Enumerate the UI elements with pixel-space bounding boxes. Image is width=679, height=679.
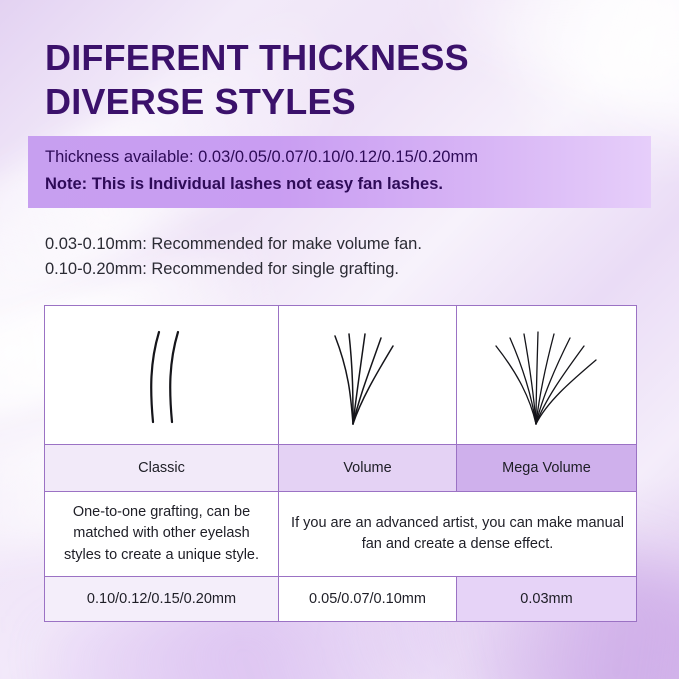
table-row-thicknesses: 0.10/0.12/0.15/0.20mm 0.05/0.07/0.10mm 0…: [45, 577, 637, 622]
table-row-images: [45, 306, 637, 445]
volume-lash-image: [279, 306, 457, 445]
recommendation-line-1: 0.03-0.10mm: Recommended for make volume…: [45, 232, 422, 257]
thickness-banner: Thickness available: 0.03/0.05/0.07/0.10…: [28, 136, 651, 208]
label-classic: Classic: [45, 445, 279, 492]
page-title-line-1: DIFFERENT THICKNESS: [45, 37, 469, 78]
label-mega-volume: Mega Volume: [457, 445, 637, 492]
page-title-line-2: DIVERSE STYLES: [45, 80, 645, 124]
table-row-descriptions: One-to-one grafting, can be matched with…: [45, 492, 637, 577]
table-row-labels: Classic Volume Mega Volume: [45, 445, 637, 492]
banner-note-text: Note: This is Individual lashes not easy…: [45, 171, 651, 197]
thickness-volume: 0.05/0.07/0.10mm: [279, 577, 457, 622]
mega-volume-lash-image: [457, 306, 637, 445]
recommendations: 0.03-0.10mm: Recommended for make volume…: [45, 232, 422, 282]
description-volume-mega: If you are an advanced artist, you can m…: [279, 492, 637, 577]
poster-root: DIFFERENT THICKNESS DIVERSE STYLES Thick…: [0, 0, 679, 679]
label-volume: Volume: [279, 445, 457, 492]
thickness-classic: 0.10/0.12/0.15/0.20mm: [45, 577, 279, 622]
thickness-available-text: Thickness available: 0.03/0.05/0.07/0.10…: [45, 145, 651, 171]
recommendation-line-2: 0.10-0.20mm: Recommended for single graf…: [45, 257, 422, 282]
page-title: DIFFERENT THICKNESS DIVERSE STYLES: [45, 36, 645, 124]
description-classic: One-to-one grafting, can be matched with…: [45, 492, 279, 577]
thickness-mega-volume: 0.03mm: [457, 577, 637, 622]
classic-lash-image: [45, 306, 279, 445]
lash-styles-table: Classic Volume Mega Volume One-to-one gr…: [44, 305, 637, 622]
